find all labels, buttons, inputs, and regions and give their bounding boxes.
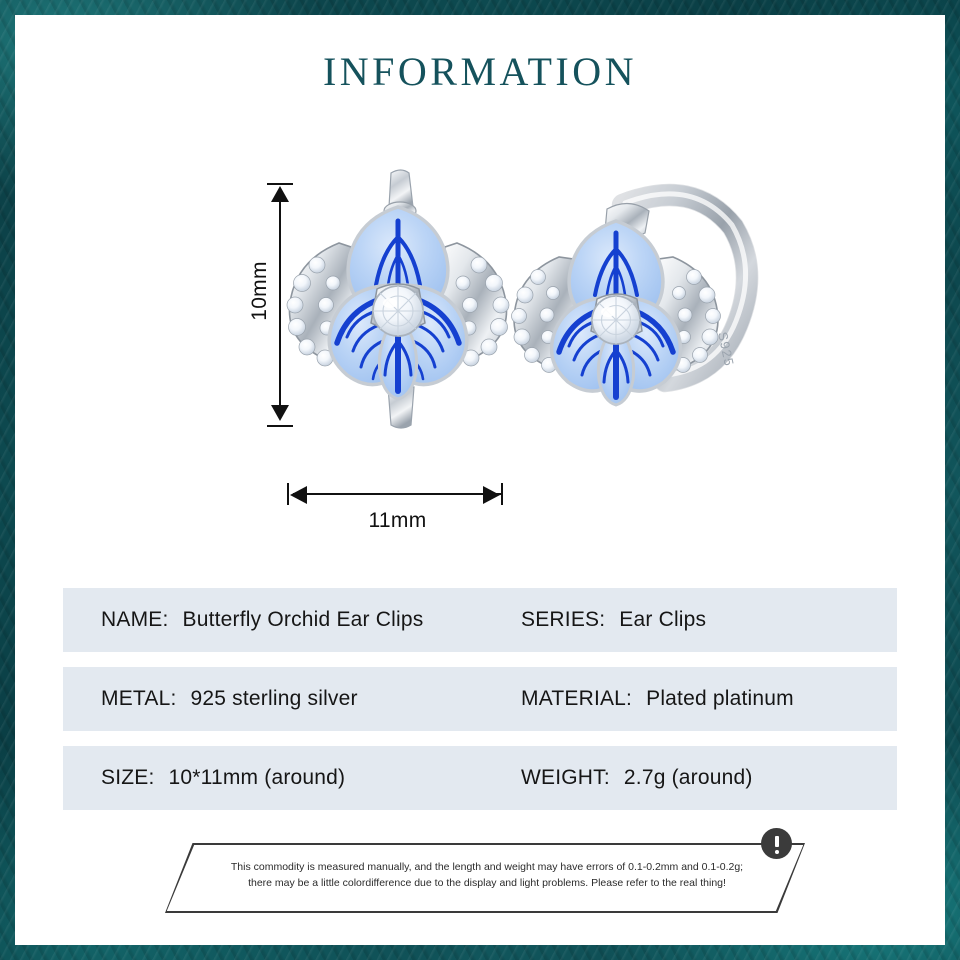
spec-key: NAME: xyxy=(101,608,169,632)
specs-table: NAME: Butterfly Orchid Ear Clips SERIES:… xyxy=(63,588,897,825)
disclaimer-line-1: This commodity is measured manually, and… xyxy=(209,859,765,875)
earring-right-image: S925 xyxy=(503,165,773,435)
page-title: INFORMATION xyxy=(15,48,945,95)
table-row: METAL: 925 sterling silver MATERIAL: Pla… xyxy=(63,667,897,731)
spec-key: SIZE: xyxy=(101,766,155,790)
earring-left-image xyxy=(273,165,523,435)
dimension-cap-left xyxy=(287,483,289,505)
table-row: NAME: Butterfly Orchid Ear Clips SERIES:… xyxy=(63,588,897,652)
spec-cell-size: SIZE: 10*11mm (around) xyxy=(101,766,521,790)
content-card: INFORMATION 10mm 11mm xyxy=(15,15,945,945)
exclamation-glyph xyxy=(775,834,779,854)
spec-cell-weight: WEIGHT: 2.7g (around) xyxy=(521,766,753,790)
spec-key: METAL: xyxy=(101,687,177,711)
spec-value: 2.7g (around) xyxy=(624,766,753,790)
table-row: SIZE: 10*11mm (around) WEIGHT: 2.7g (aro… xyxy=(63,746,897,810)
spec-key: MATERIAL: xyxy=(521,687,632,711)
spec-cell-series: SERIES: Ear Clips xyxy=(521,608,706,632)
spec-value: 925 sterling silver xyxy=(191,687,358,711)
spec-cell-name: NAME: Butterfly Orchid Ear Clips xyxy=(101,608,521,632)
disclaimer-line-2: there may be a little colordifference du… xyxy=(209,875,765,891)
spec-value: 10*11mm (around) xyxy=(169,766,346,790)
spec-cell-metal: METAL: 925 sterling silver xyxy=(101,687,521,711)
spec-value: Plated platinum xyxy=(646,687,794,711)
exclamation-icon xyxy=(761,828,792,859)
dimension-cap-right xyxy=(501,483,503,505)
product-photo-area: 10mm 11mm xyxy=(15,145,945,565)
arrow-right-icon xyxy=(483,486,500,504)
spec-value: Butterfly Orchid Ear Clips xyxy=(183,608,424,632)
spec-key: WEIGHT: xyxy=(521,766,610,790)
page-background: INFORMATION 10mm 11mm xyxy=(0,0,960,960)
disclaimer-box: This commodity is measured manually, and… xyxy=(165,843,805,913)
spec-value: Ear Clips xyxy=(619,608,706,632)
spec-cell-material: MATERIAL: Plated platinum xyxy=(521,687,794,711)
spec-key: SERIES: xyxy=(521,608,605,632)
disclaimer-text: This commodity is measured manually, and… xyxy=(209,859,765,892)
dimension-width-label: 11mm xyxy=(285,509,510,533)
dimension-height-label: 10mm xyxy=(248,241,272,341)
dimension-width-callout: 11mm xyxy=(285,483,510,543)
dimension-line-horizontal xyxy=(293,493,501,495)
arrow-left-icon xyxy=(290,486,307,504)
